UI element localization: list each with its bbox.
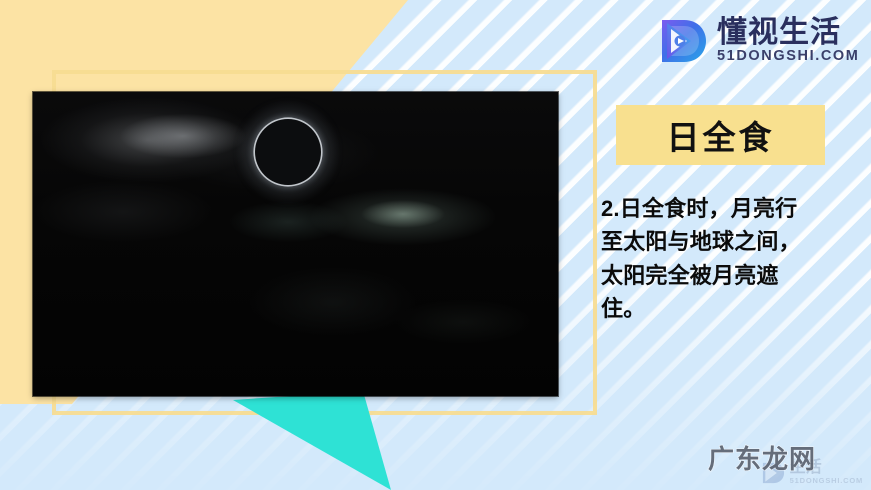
site-watermark: 广东龙网 xyxy=(708,439,816,476)
logo-brand-cn: 懂视生活 xyxy=(717,17,859,49)
title-chip: 日全食 xyxy=(616,105,825,165)
body-paragraph: 2.日全食时，月亮行至太阳与地球之间，太阳完全被月亮遮住。 xyxy=(601,192,815,326)
ghost-watermark-en: 51DONGSHI.COM xyxy=(790,476,863,487)
slide-canvas: 懂视生活 51DONGSHI.COM 日全食 2.日全食时，月亮行至太阳与地球之… xyxy=(0,0,871,490)
total-eclipse-disc xyxy=(255,119,321,185)
brand-logo[interactable]: 懂视生活 51DONGSHI.COM xyxy=(658,16,859,66)
eclipse-photo-frame[interactable] xyxy=(33,92,558,396)
logo-brand-en: 51DONGSHI.COM xyxy=(717,49,859,65)
dongshi-play-d-logo-icon xyxy=(658,16,708,66)
logo-text-group: 懂视生活 51DONGSHI.COM xyxy=(717,17,859,64)
page-title: 日全食 xyxy=(667,111,775,159)
